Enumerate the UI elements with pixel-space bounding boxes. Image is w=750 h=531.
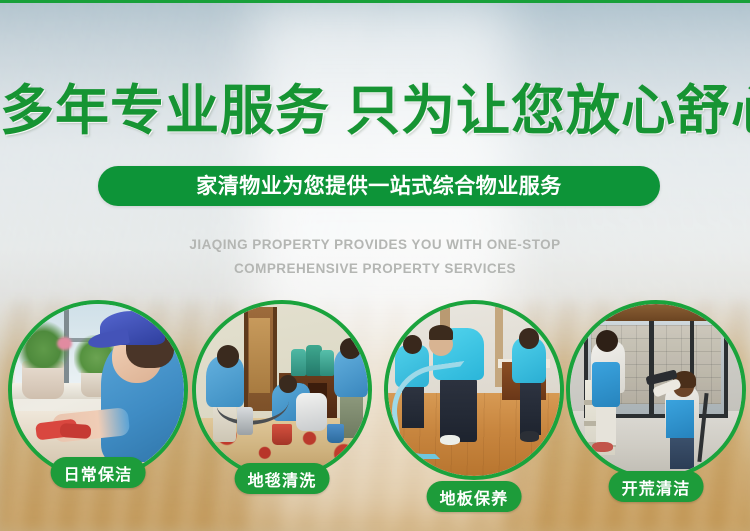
english-subtitle-line-1: JIAQING PROPERTY PROVIDES YOU WITH ONE-S… — [0, 233, 750, 257]
service-card-post-construction-cleaning[interactable]: 开荒清洁 — [566, 300, 746, 480]
english-subtitle: JIAQING PROPERTY PROVIDES YOU WITH ONE-S… — [0, 233, 750, 280]
promo-banner: 多年专业服务 只为让您放心舒心 家清物业为您提供一站式综合物业服务 JIAQIN… — [0, 0, 750, 531]
service-label-daily-cleaning[interactable]: 日常保洁 — [51, 457, 146, 488]
service-label-floor-maintenance[interactable]: 地板保养 — [427, 481, 522, 512]
service-photo-circle — [384, 300, 564, 480]
service-label-post-construction-cleaning[interactable]: 开荒清洁 — [609, 471, 704, 502]
service-card-floor-maintenance[interactable]: 地板保养 — [384, 300, 564, 480]
service-card-row: 日常保洁 — [0, 300, 750, 500]
photo-floor-maintenance — [388, 304, 560, 476]
photo-daily-cleaning — [12, 304, 184, 476]
english-subtitle-line-2: COMPREHENSIVE PROPERTY SERVICES — [0, 257, 750, 281]
top-green-rule — [0, 0, 750, 3]
service-photo-circle — [8, 300, 188, 480]
service-photo-circle — [566, 300, 746, 480]
tagline-pill: 家清物业为您提供一站式综合物业服务 — [98, 166, 660, 206]
tagline-pill-text: 家清物业为您提供一站式综合物业服务 — [196, 176, 562, 197]
photo-post-construction-cleaning — [570, 304, 742, 476]
photo-carpet-cleaning — [196, 304, 368, 476]
headline: 多年专业服务 只为让您放心舒心 — [0, 84, 750, 138]
service-photo-circle — [192, 300, 372, 480]
service-card-daily-cleaning[interactable]: 日常保洁 — [8, 300, 188, 480]
service-label-carpet-cleaning[interactable]: 地毯清洗 — [235, 463, 330, 494]
service-card-carpet-cleaning[interactable]: 地毯清洗 — [192, 300, 372, 480]
